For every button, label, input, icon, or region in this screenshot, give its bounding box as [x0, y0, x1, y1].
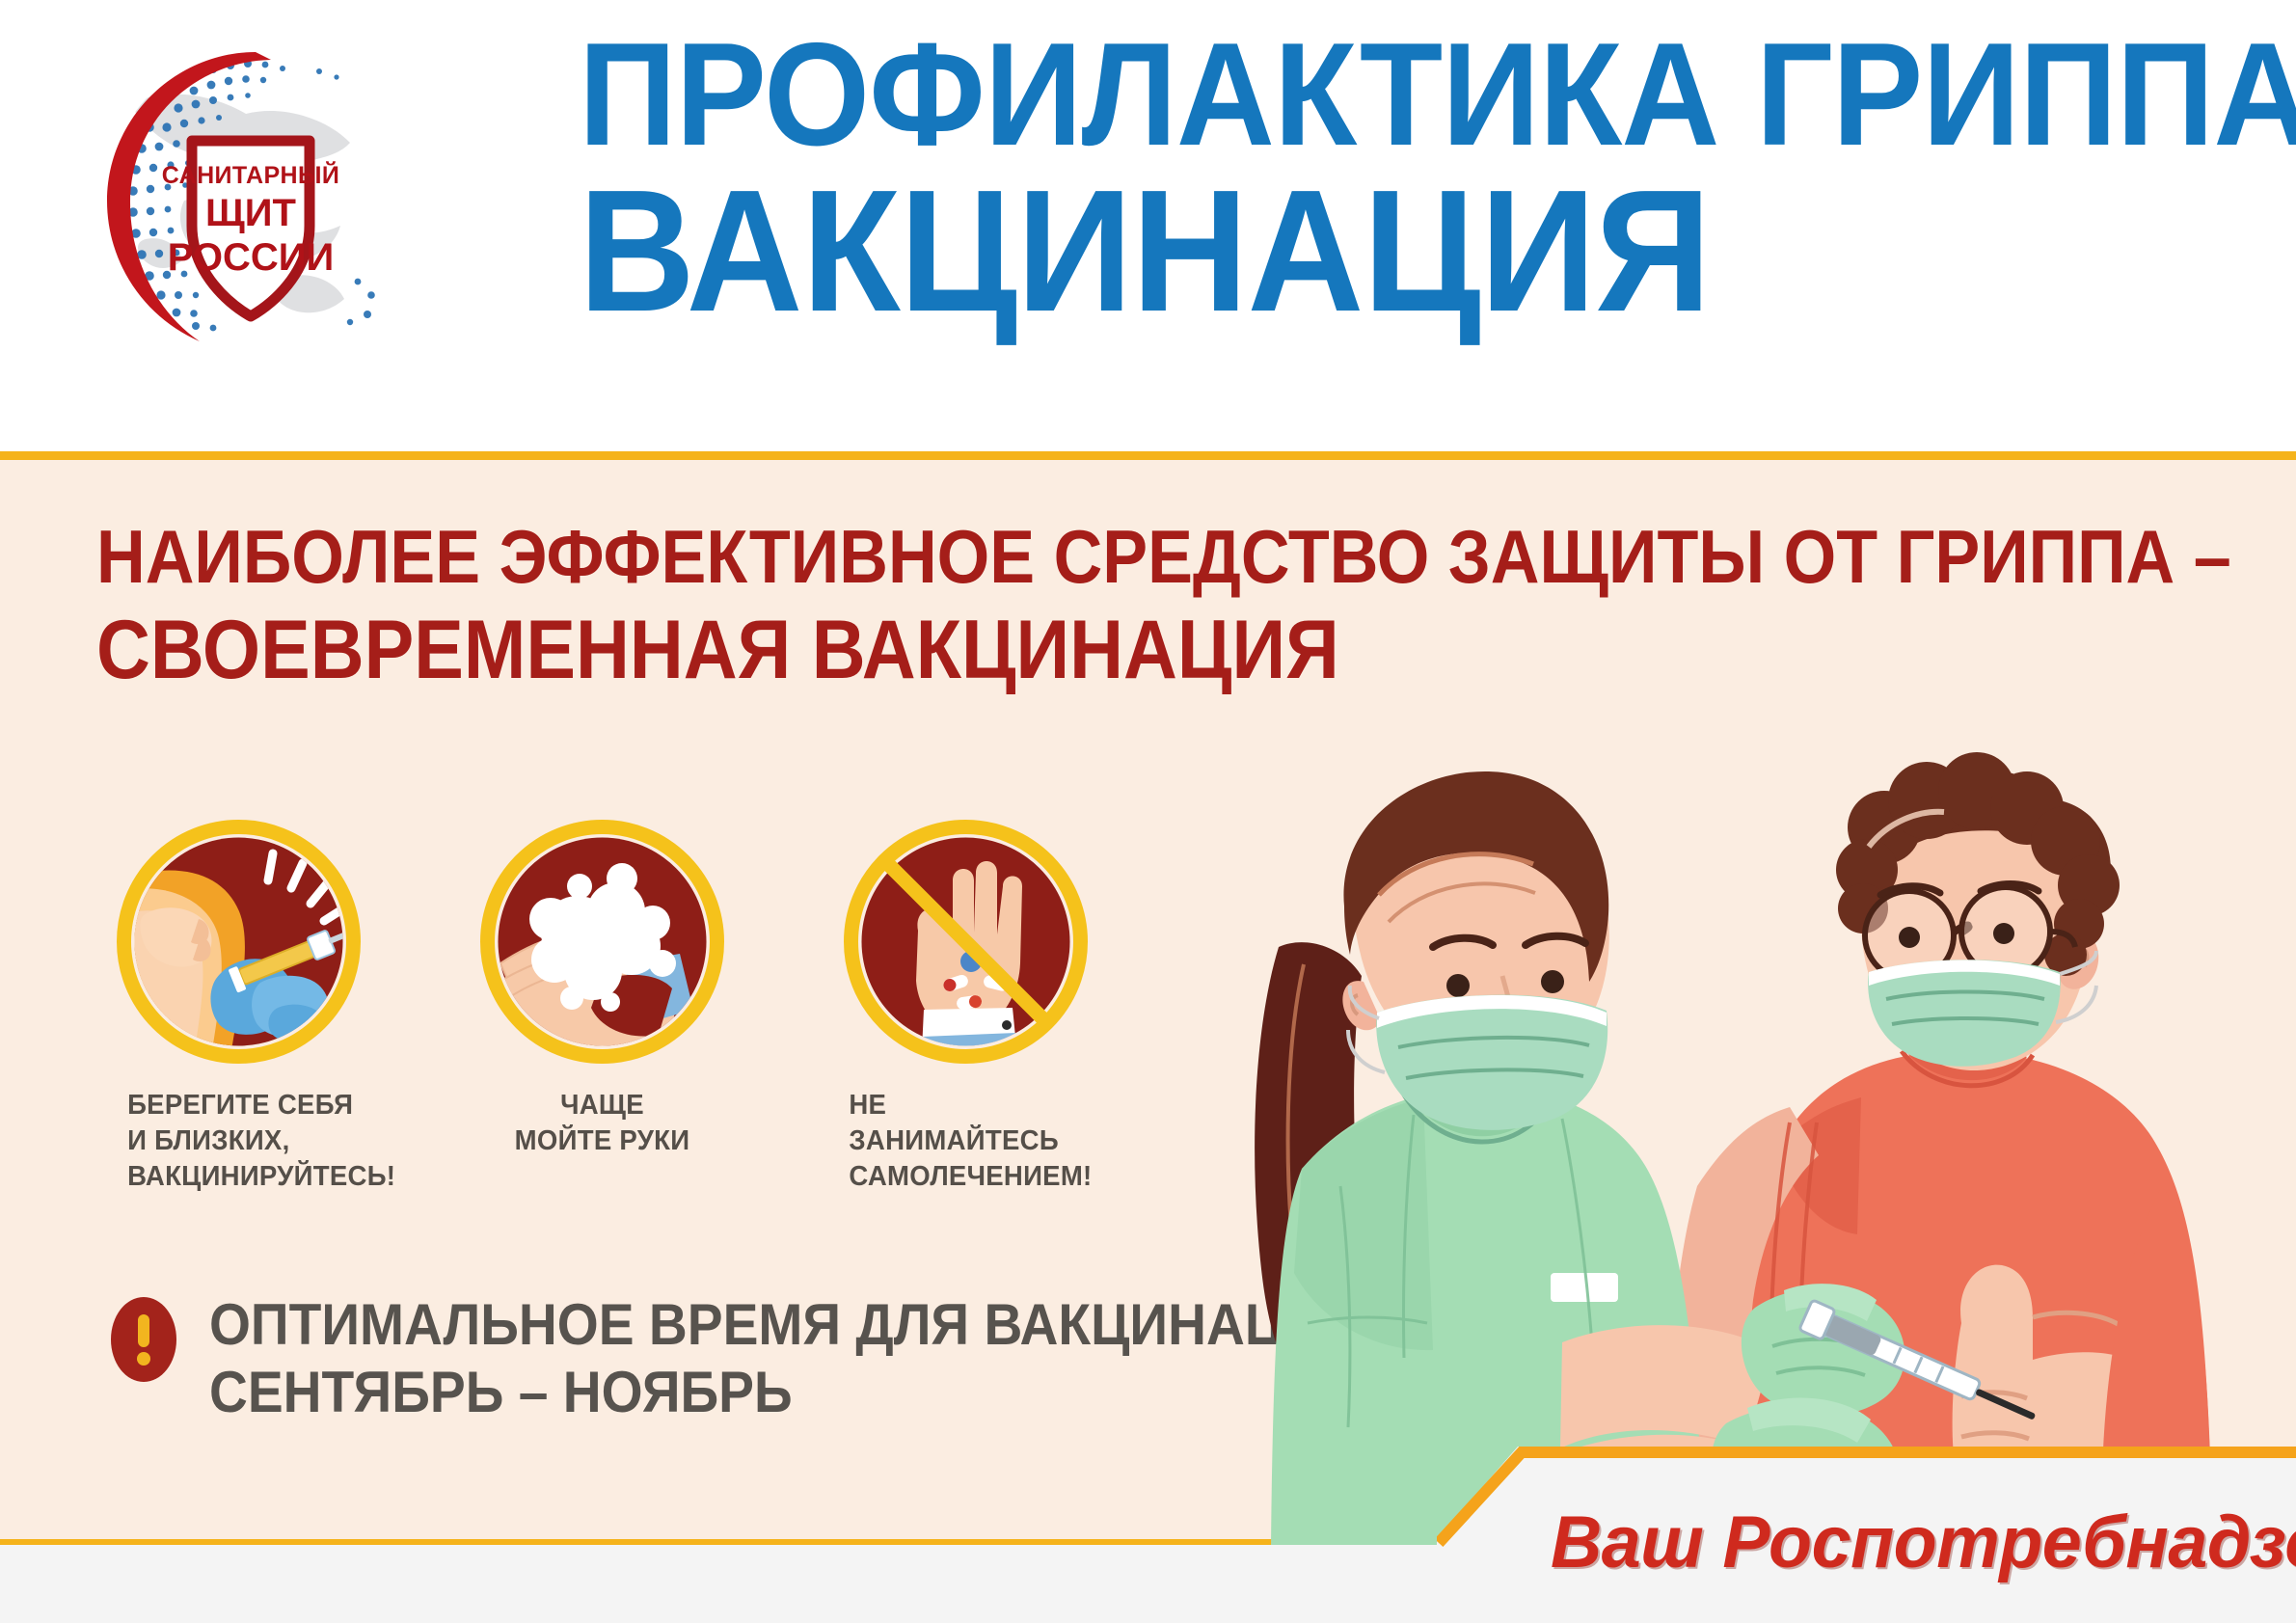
- poster-header: САНИТАРНЫЙ ЩИТ РОССИИ ПРОФИЛАКТИКА ГРИПП…: [0, 0, 2296, 453]
- prevention-caption-no-self-medication: НЕ ЗАНИМАЙТЕСЬ САМОЛЕЧЕНИЕМ!: [849, 1088, 1082, 1195]
- headline-line-1: НАИБОЛЕЕ ЭФФЕКТИВНОЕ СРЕДСТВО ЗАЩИТЫ ОТ …: [96, 518, 1876, 597]
- caption-line-1: ЧАЩЕ: [485, 1088, 718, 1123]
- vaccination-illustration: [1244, 733, 2296, 1548]
- title-line-2: ВАКЦИНАЦИЯ: [579, 169, 2013, 336]
- no-self-medication-icon: [843, 819, 1089, 1065]
- prevention-caption-vaccination: БЕРЕГИТЕ СЕБЯ И БЛИЗКИХ, ВАКЦИНИРУЙТЕСЬ!: [122, 1088, 355, 1195]
- headline-block: НАИБОЛЕЕ ЭФФЕКТИВНОЕ СРЕДСТВО ЗАЩИТЫ ОТ …: [96, 518, 2073, 693]
- poster-title: ПРОФИЛАКТИКА ГРИППА – ВАКЦИНАЦИЯ: [579, 27, 2121, 336]
- vaccination-icon: [116, 819, 362, 1065]
- optimal-time-callout: ОПТИМАЛЬНОЕ ВРЕМЯ ДЛЯ ВАКЦИНАЦИИ – СЕНТЯ…: [111, 1289, 1364, 1425]
- callout-line-2: СЕНТЯБРЬ – НОЯБРЬ: [209, 1359, 1405, 1426]
- caption-line-2: САМОЛЕЧЕНИЕМ!: [849, 1159, 1082, 1195]
- exclamation-icon: [111, 1297, 176, 1382]
- wash-hands-icon: [479, 819, 725, 1065]
- logo-line1: САНИТАРНЫЙ: [162, 160, 339, 189]
- prevention-icon-row: БЕРЕГИТЕ СЕБЯ И БЛИЗКИХ, ВАКЦИНИРУЙТЕСЬ!: [116, 819, 1254, 1195]
- logo-line3: РОССИИ: [168, 236, 335, 279]
- caption-line-1: БЕРЕГИТЕ СЕБЯ: [127, 1088, 356, 1123]
- logo-line2: ЩИТ: [205, 192, 296, 234]
- rospotrebnadzor-label: Ваш Роспотребнадзор: [1551, 1501, 2296, 1584]
- prevention-caption-wash-hands: ЧАЩЕ МОЙТЕ РУКИ: [485, 1088, 718, 1159]
- poster-root: САНИТАРНЫЙ ЩИТ РОССИИ ПРОФИЛАКТИКА ГРИПП…: [0, 0, 2296, 1623]
- header-gold-divider: [0, 451, 2296, 460]
- caption-line-1: НЕ ЗАНИМАЙТЕСЬ: [849, 1088, 1082, 1159]
- prevention-item-wash-hands: ЧАЩЕ МОЙТЕ РУКИ: [479, 819, 725, 1195]
- title-line-1: ПРОФИЛАКТИКА ГРИППА –: [579, 27, 2013, 163]
- headline-line-2: СВОЕВРЕМЕННАЯ ВАКЦИНАЦИЯ: [96, 607, 1876, 693]
- caption-line-2: МОЙТЕ РУКИ: [485, 1123, 718, 1159]
- callout-line-1: ОПТИМАЛЬНОЕ ВРЕМЯ ДЛЯ ВАКЦИНАЦИИ –: [209, 1291, 1405, 1359]
- caption-line-3: ВАКЦИНИРУЙТЕСЬ!: [127, 1159, 356, 1195]
- sanitary-shield-logo: САНИТАРНЫЙ ЩИТ РОССИИ: [92, 37, 410, 355]
- prevention-item-no-self-medication: НЕ ЗАНИМАЙТЕСЬ САМОЛЕЧЕНИЕМ!: [843, 819, 1089, 1195]
- prevention-item-vaccination: БЕРЕГИТЕ СЕБЯ И БЛИЗКИХ, ВАКЦИНИРУЙТЕСЬ!: [116, 819, 362, 1195]
- caption-line-2: И БЛИЗКИХ,: [127, 1123, 356, 1159]
